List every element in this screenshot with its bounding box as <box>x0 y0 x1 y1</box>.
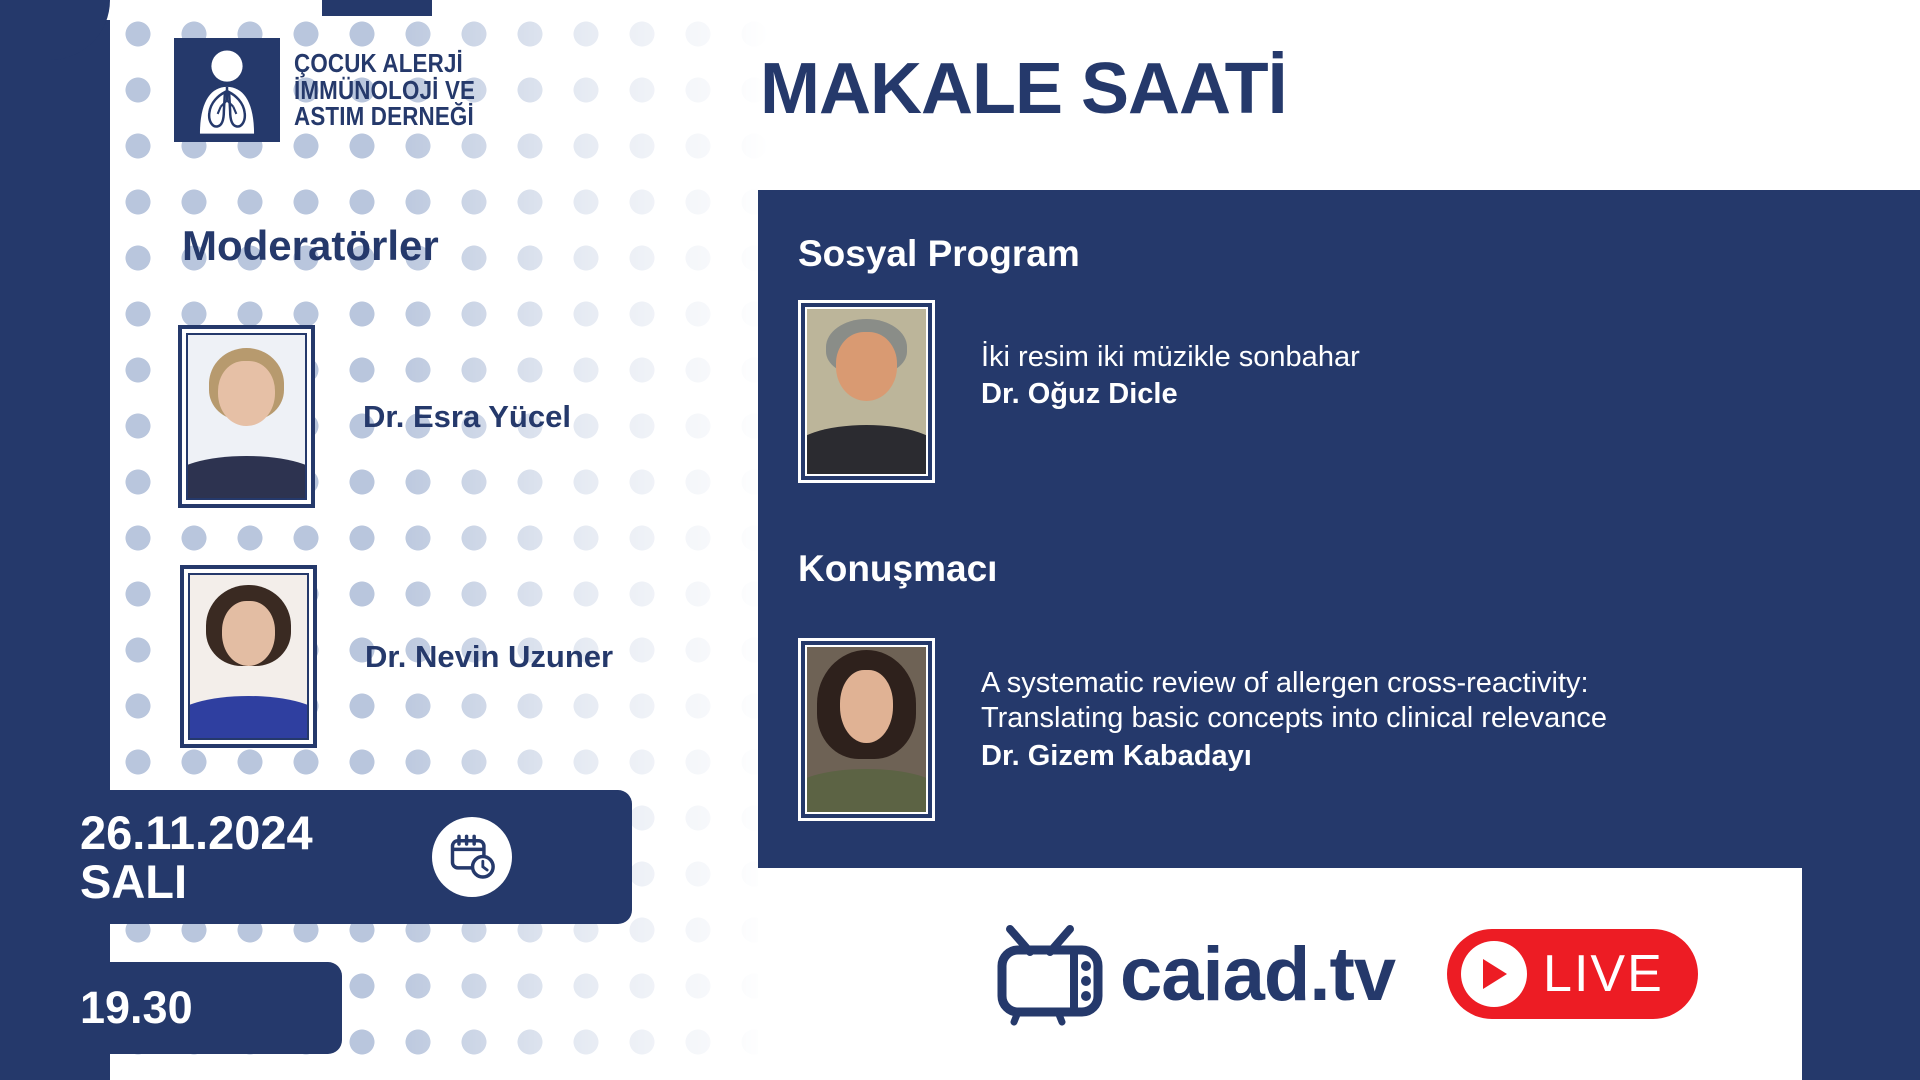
date-block: 26.11.2024 SALI <box>0 790 632 924</box>
logo-line-2: İMMÜNOLOJİ VE <box>294 77 475 104</box>
association-logo: ÇOCUK ALERJİ İMMÜNOLOJİ VE ASTIM DERNEĞİ <box>174 38 505 142</box>
moderators-heading: Moderatörler <box>182 222 439 270</box>
speaker-name: Dr. Gizem Kabadayı <box>981 740 1607 773</box>
time-value: 19.30 <box>80 982 193 1034</box>
child-lungs-icon <box>174 38 280 142</box>
avatar <box>798 300 935 483</box>
program-panel: Sosyal Program İki resim iki müzikle son… <box>758 190 1920 868</box>
time-block: 19.30 <box>0 962 342 1054</box>
talk-title: İki resim iki müzikle sonbahar <box>981 340 1360 375</box>
moderator-item: Dr. Nevin Uzuner <box>180 565 613 748</box>
moderator-name: Dr. Nevin Uzuner <box>365 639 613 675</box>
moderator-name: Dr. Esra Yücel <box>363 399 571 435</box>
social-program-entry: İki resim iki müzikle sonbahar Dr. Oğuz … <box>798 300 1360 483</box>
avatar <box>180 565 317 748</box>
talk-title-line-1: A systematic review of allergen cross-re… <box>981 666 1607 701</box>
caiad-tv-logo[interactable]: caiad.tv <box>996 922 1395 1026</box>
talk-title-line-2: Translating basic concepts into clinical… <box>981 701 1607 736</box>
speaker-name: Dr. Oğuz Dicle <box>981 378 1360 411</box>
avatar <box>798 638 935 821</box>
page-title: MAKALE SAATİ <box>760 48 1287 130</box>
social-program-heading: Sosyal Program <box>798 233 1080 275</box>
calendar-clock-icon <box>432 817 512 897</box>
moderator-item: Dr. Esra Yücel <box>178 325 571 508</box>
speaker-section-heading: Konuşmacı <box>798 548 997 590</box>
top-tab-shape <box>322 0 432 16</box>
footer-bar: caiad.tv LIVE <box>758 868 1802 1080</box>
avatar <box>178 325 315 508</box>
retro-tv-icon <box>996 922 1114 1026</box>
day-value: SALI <box>80 857 313 906</box>
brand-name: caiad.tv <box>1120 931 1395 1018</box>
play-icon <box>1461 941 1527 1007</box>
live-label: LIVE <box>1543 944 1664 1004</box>
logo-line-3: ASTIM DERNEĞİ <box>294 103 475 130</box>
logo-line-1: ÇOCUK ALERJİ <box>294 50 475 77</box>
speaker-entry: A systematic review of allergen cross-re… <box>798 638 1607 821</box>
live-badge[interactable]: LIVE <box>1447 929 1698 1019</box>
date-value: 26.11.2024 <box>80 808 313 857</box>
